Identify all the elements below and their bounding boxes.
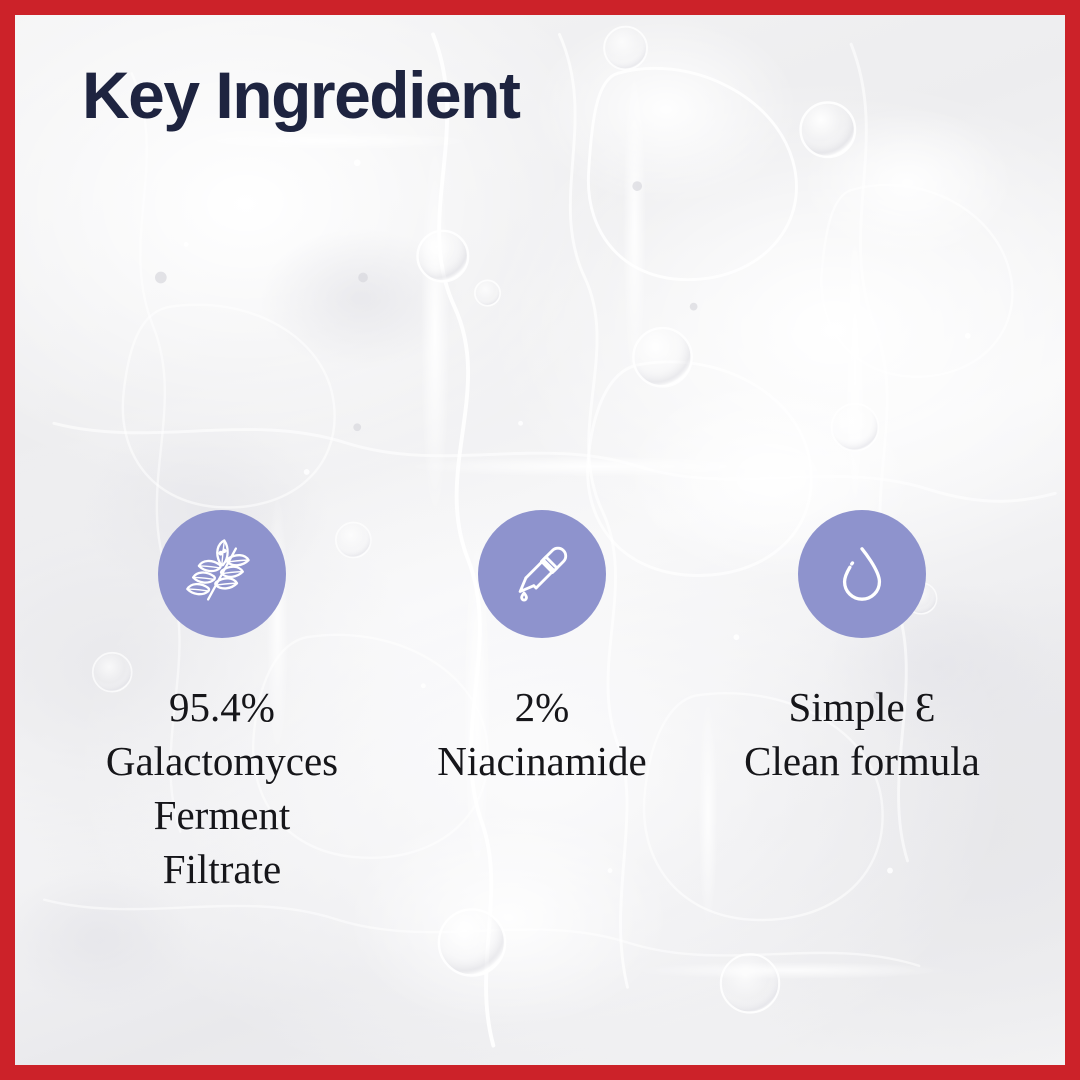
feature-item-niacinamide[interactable]: 2% Niacinamide [382, 510, 702, 788]
feature-icon-circle [798, 510, 926, 638]
feature-item-clean-formula[interactable]: Simple Ɛ Clean formula [702, 510, 1022, 788]
content-layer: Key Ingredient [15, 15, 1065, 1065]
feature-list: 95.4% Galactomyces Ferment Filtrate [30, 510, 1050, 896]
feature-label: Simple Ɛ Clean formula [744, 680, 980, 788]
key-ingredient-infographic: Key Ingredient [0, 0, 1080, 1080]
feature-label: 2% Niacinamide [437, 680, 646, 788]
feature-item-galactomyces[interactable]: 95.4% Galactomyces Ferment Filtrate [62, 510, 382, 896]
feature-icon-circle [158, 510, 286, 638]
page-title: Key Ingredient [82, 62, 519, 128]
dropper-icon [507, 539, 577, 609]
feature-icon-circle [478, 510, 606, 638]
leaf-branch-icon [185, 537, 259, 611]
water-drop-icon [831, 543, 893, 605]
feature-label: 95.4% Galactomyces Ferment Filtrate [106, 680, 338, 896]
